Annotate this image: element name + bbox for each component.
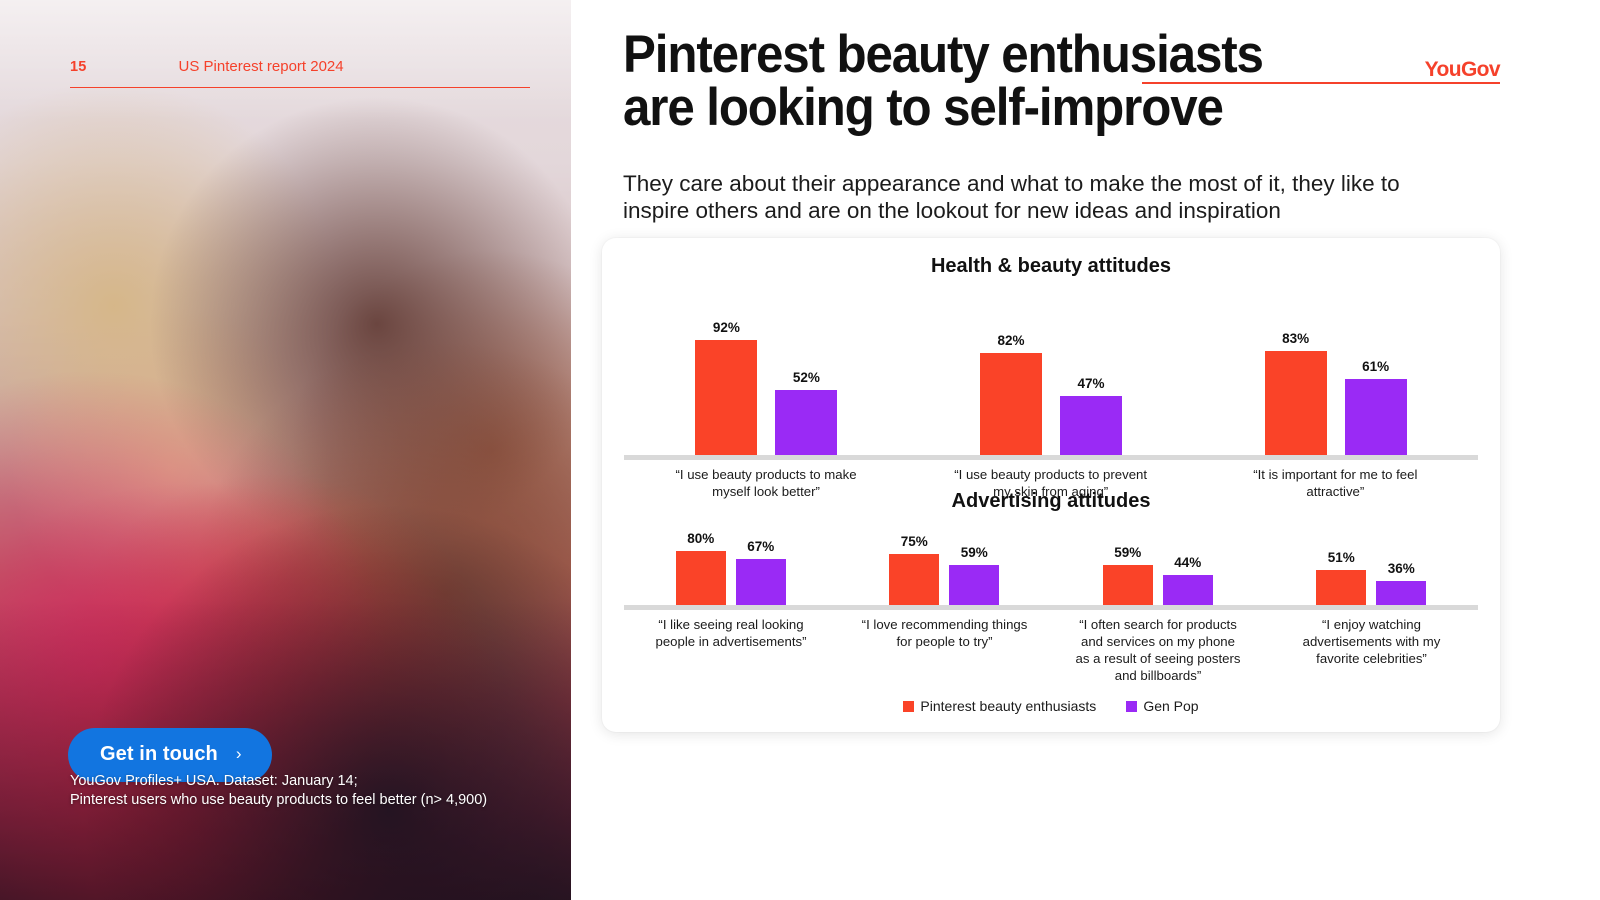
bar-item: 59% <box>949 565 999 605</box>
bar-value-label: 47% <box>1077 376 1104 391</box>
bar-group: 75%59% <box>838 554 1052 605</box>
bar-item: 52% <box>775 390 837 455</box>
source-note-line-1: YouGov Profiles+ USA. Dataset: January 1… <box>70 772 540 791</box>
bar-group: 80%67% <box>624 551 838 605</box>
bar-value-label: 59% <box>1114 545 1141 560</box>
chart-card: Health & beauty attitudes 92%52%82%47%83… <box>602 238 1500 732</box>
chart-axis-line <box>624 605 1478 610</box>
bar-value-label: 75% <box>901 534 928 549</box>
bar-pinterest <box>980 353 1042 456</box>
chart-title-health: Health & beauty attitudes <box>602 255 1500 278</box>
page-title-line-1: Pinterest beauty enthusiasts <box>623 28 1386 81</box>
bar-genpop <box>949 565 999 605</box>
page-subtitle-line-1: They care about their appearance and wha… <box>623 170 1503 197</box>
bar-pinterest <box>695 340 757 455</box>
bar-pinterest <box>1103 565 1153 605</box>
bar-value-label: 80% <box>687 531 714 546</box>
bar-value-label: 52% <box>793 370 820 385</box>
bar-pinterest <box>676 551 726 605</box>
legend-item-genpop: Gen Pop <box>1126 698 1198 714</box>
bar-genpop <box>775 390 837 455</box>
page-subtitle-line-2: inspire others and are on the lookout fo… <box>623 197 1503 224</box>
bar-group: 51%36% <box>1265 570 1479 605</box>
bar-genpop <box>1345 379 1407 455</box>
legend-label: Gen Pop <box>1143 698 1198 714</box>
bar-pinterest <box>889 554 939 605</box>
legend-swatch-icon <box>1126 701 1137 712</box>
bar-item: 80% <box>676 551 726 605</box>
bar-group: 82%47% <box>909 353 1194 456</box>
category-label: “I love recommending things for people t… <box>862 616 1028 650</box>
page-subtitle: They care about their appearance and wha… <box>623 170 1503 224</box>
category-label: “I often search for products and service… <box>1075 616 1241 684</box>
left-photo-panel: 15 US Pinterest report 2024 Get in touch… <box>0 0 571 900</box>
bar-pinterest <box>1316 570 1366 605</box>
chevron-right-icon: › <box>236 745 242 762</box>
source-note-line-2: Pinterest users who use beauty products … <box>70 791 540 810</box>
source-note: YouGov Profiles+ USA. Dataset: January 1… <box>70 772 540 810</box>
slide: 15 US Pinterest report 2024 Get in touch… <box>0 0 1600 900</box>
bar-item: 44% <box>1163 575 1213 605</box>
legend-label: Pinterest beauty enthusiasts <box>920 698 1096 714</box>
yougov-logo: YouGov <box>1425 58 1500 82</box>
bar-pinterest <box>1265 351 1327 455</box>
report-name: US Pinterest report 2024 <box>179 58 344 75</box>
bar-value-label: 36% <box>1388 561 1415 576</box>
chart-plot-advertising: 80%67%75%59%59%44%51%36% <box>624 518 1478 610</box>
bar-item: 82% <box>980 353 1042 456</box>
bar-value-label: 82% <box>997 333 1024 348</box>
bar-group: 83%61% <box>1193 351 1478 455</box>
bar-group: 92%52% <box>624 340 909 455</box>
brand-rule <box>1142 82 1500 84</box>
legend-item-pinterest: Pinterest beauty enthusiasts <box>903 698 1096 714</box>
bar-genpop <box>736 559 786 605</box>
bar-item: 61% <box>1345 379 1407 455</box>
chart-plot-health: 92%52%82%47%83%61% <box>624 280 1478 460</box>
page-number: 15 <box>70 59 87 75</box>
bar-item: 36% <box>1376 581 1426 605</box>
bar-item: 75% <box>889 554 939 605</box>
bar-value-label: 92% <box>713 320 740 335</box>
bar-value-label: 59% <box>961 545 988 560</box>
chart-axis-line <box>624 455 1478 460</box>
bar-genpop <box>1060 396 1122 455</box>
category-label: “I like seeing real looking people in ad… <box>648 616 814 650</box>
bar-value-label: 51% <box>1328 550 1355 565</box>
get-in-touch-label: Get in touch <box>100 743 218 766</box>
bar-value-label: 83% <box>1282 331 1309 346</box>
chart-legend: Pinterest beauty enthusiasts Gen Pop <box>602 698 1500 714</box>
bar-item: 67% <box>736 559 786 605</box>
bar-item: 59% <box>1103 565 1153 605</box>
bar-item: 51% <box>1316 570 1366 605</box>
slide-meta: 15 US Pinterest report 2024 <box>70 58 530 88</box>
bar-item: 47% <box>1060 396 1122 455</box>
bar-value-label: 67% <box>747 539 774 554</box>
page-title-line-2: are looking to self-improve <box>623 81 1386 134</box>
right-content-panel: Pinterest beauty enthusiasts are looking… <box>571 0 1600 900</box>
bar-item: 83% <box>1265 351 1327 455</box>
bar-genpop <box>1376 581 1426 605</box>
bar-group: 59%44% <box>1051 565 1265 605</box>
chart-title-advertising: Advertising attitudes <box>602 490 1500 513</box>
bar-value-label: 61% <box>1362 359 1389 374</box>
category-label: “I enjoy watching advertisements with my… <box>1289 616 1455 667</box>
bar-item: 92% <box>695 340 757 455</box>
bar-genpop <box>1163 575 1213 605</box>
page-title: Pinterest beauty enthusiasts are looking… <box>623 28 1386 134</box>
bar-value-label: 44% <box>1174 555 1201 570</box>
legend-swatch-icon <box>903 701 914 712</box>
